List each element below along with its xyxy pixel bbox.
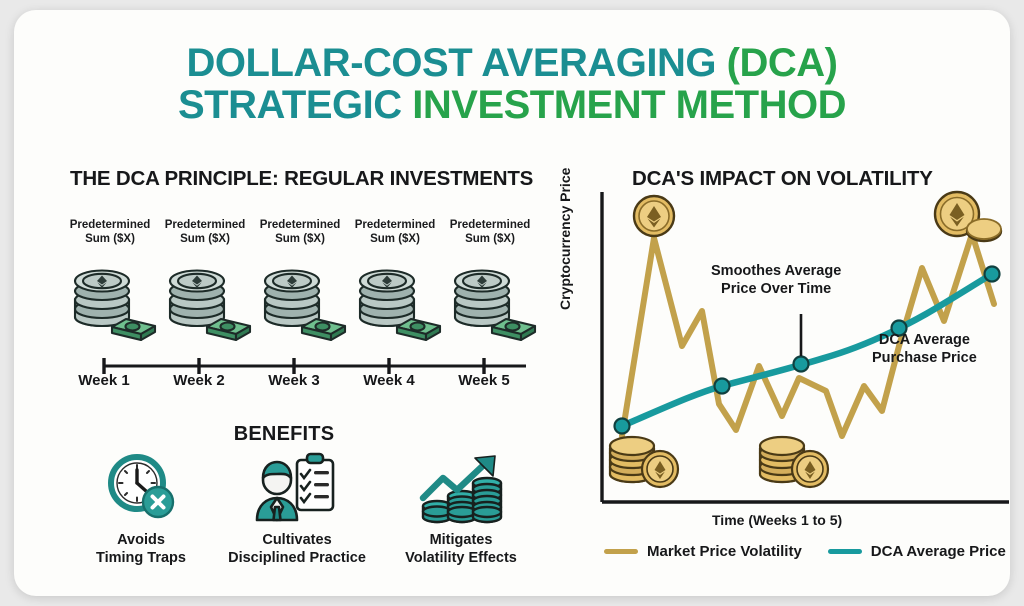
- ethereum-coin-pair-top-right-icon: [935, 192, 1001, 241]
- coin-cash-stack-icon-1: [62, 255, 158, 341]
- investment-label-2: Predetermined Sum ($X): [153, 218, 257, 247]
- coin-cash-stack-icon-2: [157, 255, 253, 341]
- week-label-5: Week 5: [432, 372, 536, 389]
- benefit-item-1: Avoids Timing Traps: [56, 450, 226, 567]
- gold-coin-stack-bottom-left-icon: [610, 437, 678, 487]
- legend-item-market-price-volatility: Market Price Volatility: [604, 543, 802, 560]
- chart-y-axis-label: Cryptocurrency Price: [557, 168, 573, 310]
- page-title: DOLLAR-COST AVERAGING (DCA) STRATEGIC IN…: [14, 42, 1010, 127]
- chart-legend: Market Price Volatility DCA Average Pric…: [604, 543, 1006, 560]
- title-line-1: DOLLAR-COST AVERAGING (DCA): [14, 42, 1010, 84]
- benefits-heading: BENEFITS: [14, 423, 554, 446]
- chart-x-axis-label: Time (Weeks 1 to 5): [712, 512, 842, 528]
- coin-cash-stack-icon-5: [442, 255, 538, 341]
- legend-item-dca-average-price: DCA Average Price: [828, 543, 1006, 560]
- investment-column-3: Predetermined Sum ($X): [248, 218, 352, 341]
- benefit-text-1: Avoids Timing Traps: [56, 532, 226, 567]
- investment-label-1: Predetermined Sum ($X): [58, 218, 162, 247]
- legend-swatch-market: [604, 549, 638, 554]
- investment-column-4: Predetermined Sum ($X): [343, 218, 447, 341]
- clock-x-icon: [56, 450, 226, 528]
- infographic-page: DOLLAR-COST AVERAGING (DCA) STRATEGIC IN…: [0, 0, 1024, 606]
- title-part-dollar-cost-averaging: DOLLAR-COST AVERAGING: [187, 41, 727, 85]
- legend-label-market: Market Price Volatility: [647, 543, 802, 560]
- week-label-3: Week 3: [242, 372, 346, 389]
- left-section-heading: THE DCA PRINCIPLE: REGULAR INVESTMENTS: [70, 167, 533, 191]
- week-label-1: Week 1: [52, 372, 156, 389]
- benefit-item-2: Cultivates Disciplined Practice: [212, 450, 382, 567]
- benefit-text-3: Mitigates Volatility Effects: [376, 532, 546, 567]
- legend-swatch-dca: [828, 549, 862, 554]
- legend-label-dca: DCA Average Price: [871, 543, 1006, 560]
- investment-column-1: Predetermined Sum ($X): [58, 218, 162, 341]
- investment-column-5: Predetermined Sum ($X): [438, 218, 542, 341]
- annotation-dca-average-purchase-price: DCA Average Purchase Price: [872, 332, 977, 367]
- investment-label-3: Predetermined Sum ($X): [248, 218, 352, 247]
- week-label-4: Week 4: [337, 372, 441, 389]
- person-checklist-icon: [212, 450, 382, 528]
- title-part-investment-method: INVESTMENT METHOD: [412, 83, 846, 127]
- coin-cash-stack-icon-3: [252, 255, 348, 341]
- gold-coin-stack-bottom-middle-icon: [760, 437, 828, 487]
- week-label-2: Week 2: [147, 372, 251, 389]
- coin-cash-stack-icon-4: [347, 255, 443, 341]
- ethereum-coin-top-left-icon: [634, 196, 674, 236]
- infographic-card: DOLLAR-COST AVERAGING (DCA) STRATEGIC IN…: [14, 10, 1010, 596]
- title-part-strategic: STRATEGIC: [178, 83, 412, 127]
- investment-label-4: Predetermined Sum ($X): [343, 218, 447, 247]
- title-line-2: STRATEGIC INVESTMENT METHOD: [14, 84, 1010, 126]
- title-part-dca: (DCA): [727, 41, 838, 85]
- growth-arrow-coins-icon: [376, 450, 546, 528]
- benefit-item-3: Mitigates Volatility Effects: [376, 450, 546, 567]
- annotation-smoothes-average-price: Smoothes Average Price Over Time: [711, 263, 841, 298]
- investment-column-2: Predetermined Sum ($X): [153, 218, 257, 341]
- investment-label-5: Predetermined Sum ($X): [438, 218, 542, 247]
- benefit-text-2: Cultivates Disciplined Practice: [212, 532, 382, 567]
